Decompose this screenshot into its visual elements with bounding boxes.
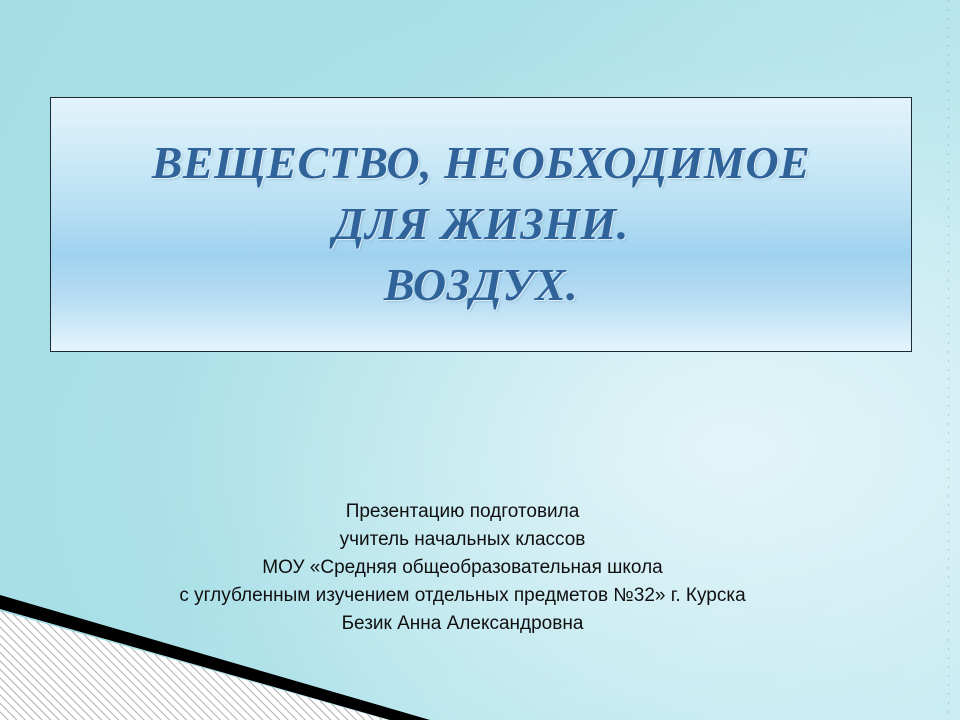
slide-title: ВЕЩЕСТВО, НЕОБХОДИМОЕ ДЛЯ ЖИЗНИ. ВОЗДУХ. xyxy=(134,133,829,315)
title-box: ВЕЩЕСТВО, НЕОБХОДИМОЕ ДЛЯ ЖИЗНИ. ВОЗДУХ. xyxy=(50,97,912,352)
credits-block: Презентацию подготовила учитель начальны… xyxy=(0,498,925,638)
credits-line-4: с углубленным изучением отдельных предме… xyxy=(0,582,925,610)
presentation-slide: ВЕЩЕСТВО, НЕОБХОДИМОЕ ДЛЯ ЖИЗНИ. ВОЗДУХ.… xyxy=(0,0,960,720)
credits-line-3: МОУ «Средняя общеобразовательная школа xyxy=(0,554,925,582)
credits-line-2: учитель начальных классов xyxy=(0,526,925,554)
slide-edge-rule xyxy=(948,0,949,720)
credits-line-5: Безик Анна Александровна xyxy=(0,610,925,638)
credits-line-1: Презентацию подготовила xyxy=(0,498,925,526)
